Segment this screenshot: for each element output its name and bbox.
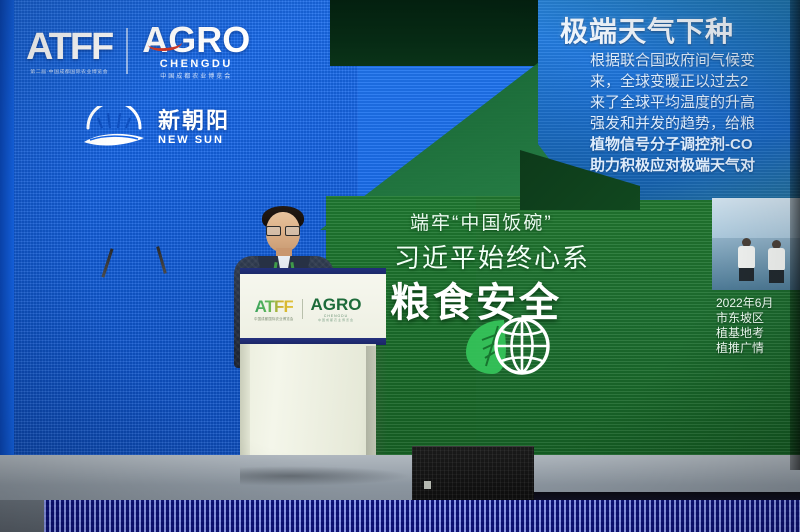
slide-body-line-4: 强发和并发的趋势，给粮 <box>590 113 800 134</box>
podium-agro-wordmark: AGRO <box>311 296 362 313</box>
agro-subtitle-cn: 中国成都农业博览会 <box>160 71 232 80</box>
backdrop-logo-row: ATFF 第二届·中国成都国际农业博览会 AGRO CHENGDU 中国成都农业… <box>26 22 250 80</box>
podium-atff-subtitle: 中国成都国际农业博览会 <box>254 316 294 321</box>
monitor-badge <box>424 481 431 489</box>
slide-body-highlight-2: 助力积极应对极端天气对 <box>590 155 800 176</box>
photo-caption: 2022年6月 市东坡区 植基地考 植推广情 <box>716 296 800 356</box>
sunrise-field-icon <box>82 106 146 148</box>
podium-logo-row: ATFF 中国成都国际农业博览会 AGRO CHENGDU 中国成都农业博览会 <box>254 296 362 322</box>
slide-body-line-2: 来，全球变暖正以过去2 <box>590 71 800 92</box>
led-floor-strip <box>44 500 800 532</box>
slide-body-highlight-1: 植物信号分子调控剂-CO <box>590 134 800 155</box>
speaker-glasses-icon <box>266 226 300 234</box>
photo-person-legs-1 <box>739 268 754 281</box>
caption-line-4: 植推广情 <box>716 341 800 356</box>
led-strip-pixels <box>44 500 800 532</box>
photo-person-legs-2 <box>769 270 784 283</box>
atff-wordmark: ATFF <box>26 28 112 66</box>
monitor-grill <box>412 447 534 503</box>
wall-right-edge <box>790 0 800 470</box>
stage-floor-monitor <box>412 446 534 503</box>
podium-agro-logo: AGRO CHENGDU 中国成都农业博览会 <box>311 296 362 322</box>
agro-logo: AGRO CHENGDU 中国成都农业博览会 <box>142 22 250 80</box>
podium-logo-panel: ATFF 中国成都国际农业博览会 AGRO CHENGDU 中国成都农业博览会 <box>240 274 386 341</box>
podium-atff-logo: ATFF 中国成都国际农业博览会 <box>254 298 294 321</box>
podium-atff-wordmark: ATFF <box>255 298 293 315</box>
logo-divider <box>126 28 128 74</box>
photo-person-shirt-1 <box>738 246 755 269</box>
field-visit-photo <box>712 198 800 290</box>
newsun-name-cn: 新朝阳 <box>158 109 230 133</box>
atff-logo: ATFF 第二届·中国成都国际农业博览会 <box>26 28 112 75</box>
slide-right-title: 极端天气下种 <box>560 10 734 50</box>
caption-line-2: 市东坡区 <box>716 311 800 326</box>
atff-subtitle: 第二届·中国成都国际农业博览会 <box>30 68 108 74</box>
wall-left-edge <box>0 0 14 470</box>
caption-line-1: 2022年6月 <box>716 296 800 311</box>
slide-right-content: 极端天气下种 根据联合国政府间气候变 来，全球变暖正以过去2 来了全球平均温度的… <box>540 6 800 196</box>
photo-person-shirt-2 <box>768 248 785 271</box>
podium-floor-shadow <box>240 466 410 486</box>
conference-stage-photo: 极端天气下种 根据联合国政府间气候变 来，全球变暖正以过去2 来了全球平均温度的… <box>0 0 800 532</box>
leaf-globe-icon <box>458 316 554 378</box>
floor-left-edge <box>0 500 46 532</box>
newsun-logo: 新朝阳 NEW SUN <box>82 106 230 148</box>
slide-body-line-1: 根据联合国政府间气候变 <box>590 50 800 71</box>
slide-center-line-1: 端牢“中国饭碗” <box>410 208 553 235</box>
podium-logo-divider <box>302 299 303 319</box>
agro-subtitle: CHENGDU <box>160 58 233 70</box>
newsun-name-en: NEW SUN <box>158 134 224 146</box>
caption-line-3: 植基地考 <box>716 326 800 341</box>
podium-agro-subtitle-cn: 中国成都农业博览会 <box>318 318 354 322</box>
slide-right-body: 根据联合国政府间气候变 来，全球变暖正以过去2 来了全球平均温度的升高 强发和并… <box>590 50 800 176</box>
podium: ATFF 中国成都国际农业博览会 AGRO CHENGDU 中国成都农业博览会 <box>240 268 386 480</box>
photo-field <box>712 238 800 290</box>
photo-sky <box>712 198 800 240</box>
newsun-text: 新朝阳 NEW SUN <box>158 109 230 146</box>
slide-body-line-3: 来了全球平均温度的升高 <box>590 92 800 113</box>
